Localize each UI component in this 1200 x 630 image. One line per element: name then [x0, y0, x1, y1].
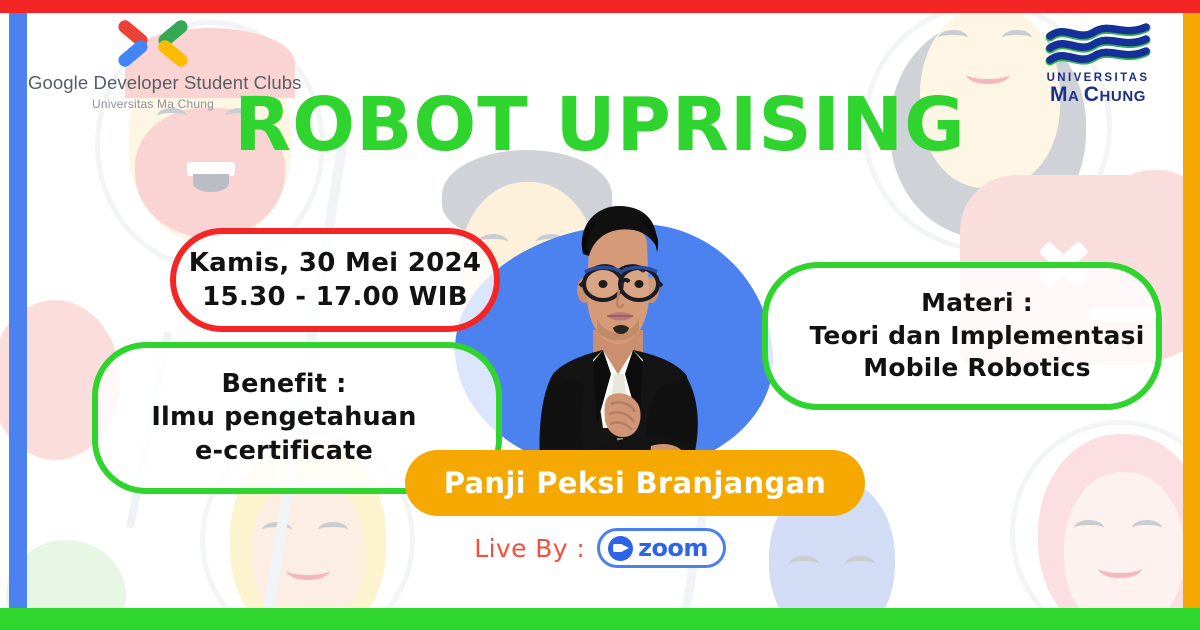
- live-by-row: Live By : zoom: [0, 528, 1200, 568]
- male-speaker-in-black-suit-photo: [493, 198, 743, 478]
- event-time: 15.30 - 17.00 WIB: [189, 280, 482, 314]
- zoom-video-camera-icon: [608, 536, 633, 561]
- machung-name-c: C: [1084, 83, 1100, 106]
- decorative-eye: [1002, 30, 1032, 46]
- benefit-heading: Benefit :: [151, 368, 416, 402]
- zoom-logo-badge: zoom: [597, 528, 726, 568]
- gdsc-logo-name: Google Developer Student Clubs: [28, 72, 278, 94]
- decorative-smile: [966, 64, 1010, 84]
- machung-name-hung: HUNG: [1099, 88, 1146, 105]
- materi-box: Materi : Teori dan Implementasi Mobile R…: [762, 262, 1162, 410]
- materi-line-1: Teori dan Implementasi: [810, 320, 1145, 353]
- decorative-eye: [938, 30, 968, 46]
- machung-logo: UNIVERSITAS MA CHUNG: [1032, 20, 1164, 106]
- bracket-bar-yellow: [156, 38, 190, 70]
- zoom-wordmark: zoom: [638, 534, 708, 562]
- event-poster: Google Developer Student Clubs Universit…: [0, 0, 1200, 630]
- machung-waves-icon: [1042, 20, 1154, 70]
- machung-name-m: M: [1050, 83, 1068, 106]
- border-stripe-top: [0, 0, 1200, 13]
- speaker-name-pill: Panji Peksi Branjangan: [405, 450, 865, 516]
- machung-name-a: A: [1068, 88, 1084, 105]
- materi-heading: Materi :: [810, 287, 1145, 320]
- live-by-label: Live By :: [474, 534, 585, 563]
- gdsc-logo: Google Developer Student Clubs Universit…: [28, 22, 278, 111]
- border-stripe-left: [9, 13, 27, 608]
- speaker-photo-group: [455, 198, 785, 473]
- border-stripe-right: [1183, 13, 1200, 608]
- speaker-name: Panji Peksi Branjangan: [444, 466, 827, 500]
- decorative-chin: [193, 174, 229, 192]
- benefit-line-1: Ilmu pengetahuan: [151, 401, 416, 435]
- machung-logo-name: MA CHUNG: [1032, 84, 1164, 106]
- date-time-box: Kamis, 30 Mei 2024 15.30 - 17.00 WIB: [170, 228, 500, 332]
- border-stripe-bottom: [0, 608, 1200, 630]
- benefit-line-2: e-certificate: [151, 435, 416, 469]
- event-date: Kamis, 30 Mei 2024: [189, 246, 482, 280]
- materi-line-2: Mobile Robotics: [810, 352, 1145, 385]
- code-brackets-icon: [112, 22, 194, 66]
- background-face-bottom-right: [1010, 420, 1200, 630]
- gdsc-logo-chapter: Universitas Ma Chung: [28, 97, 278, 111]
